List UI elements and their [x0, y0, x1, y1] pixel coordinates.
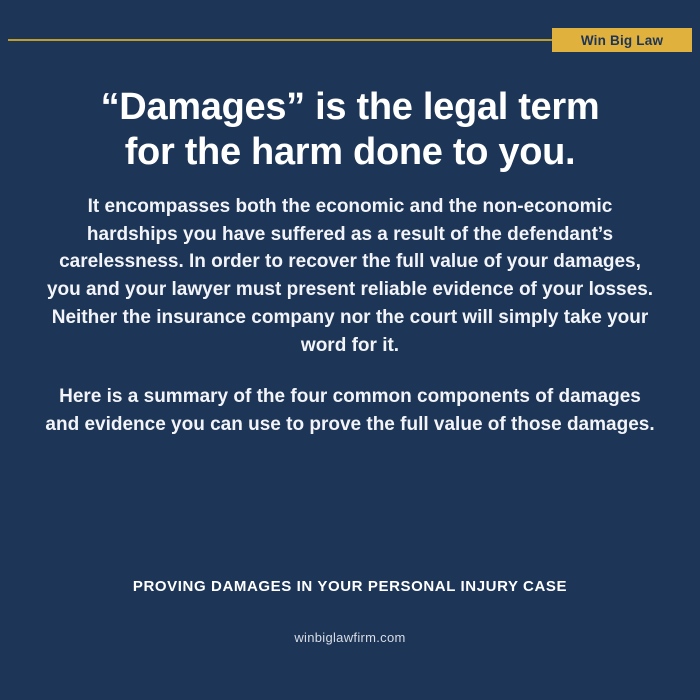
headline-line-2: for the harm done to you. — [30, 130, 670, 175]
body-paragraph-1: It encompasses both the economic and the… — [42, 193, 658, 359]
footer-title: PROVING DAMAGES IN YOUR PERSONAL INJURY … — [0, 578, 700, 595]
footer-website-url: winbiglawfirm.com — [0, 630, 700, 645]
page-title: “Damages” is the legal term for the harm… — [30, 85, 670, 175]
body-paragraph-2: Here is a summary of the four common com… — [42, 383, 658, 438]
headline-line-1: “Damages” is the legal term — [30, 85, 670, 130]
brand-badge: Win Big Law — [552, 28, 692, 52]
top-bar: Win Big Law — [0, 28, 700, 52]
slide-canvas: Win Big Law “Damages” is the legal term … — [0, 0, 700, 700]
body-copy: It encompasses both the economic and the… — [42, 193, 658, 439]
